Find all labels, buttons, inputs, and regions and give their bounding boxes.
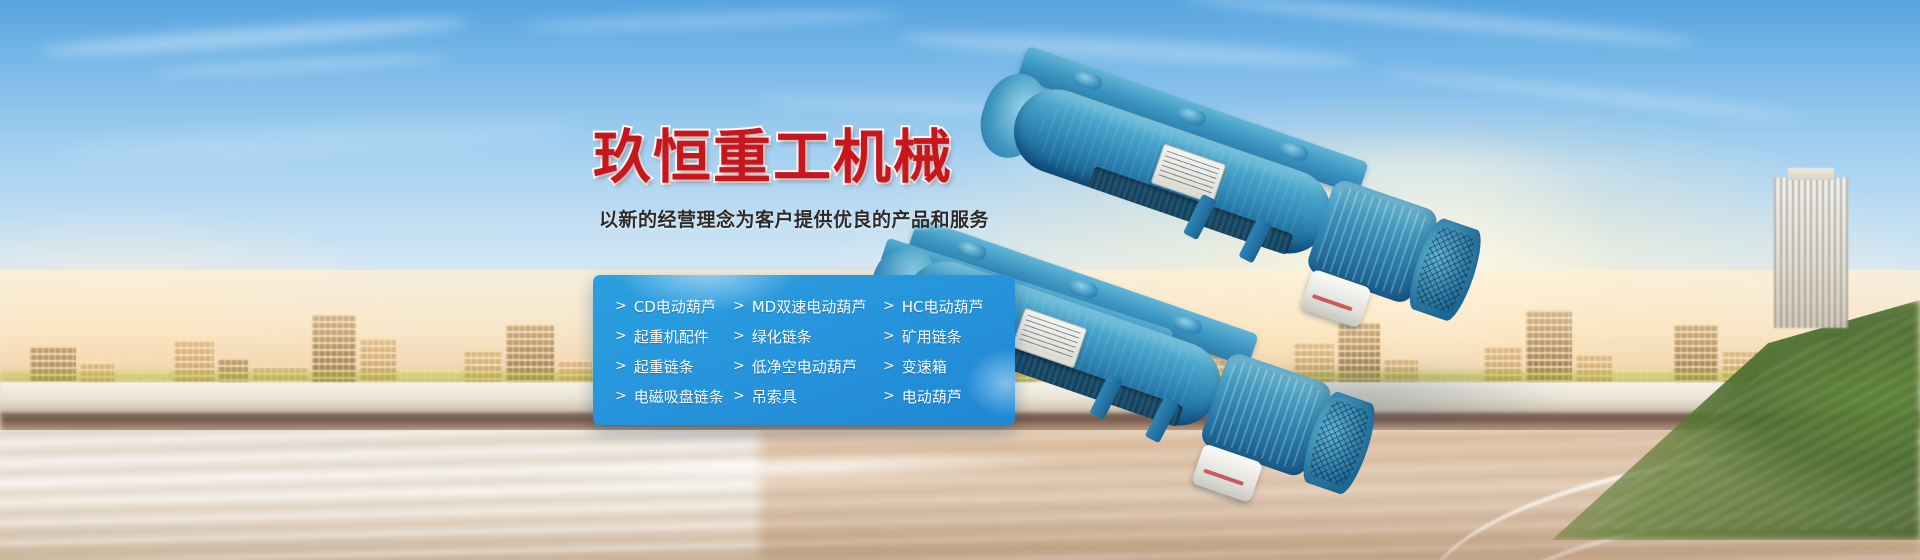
chevron-right-icon: >	[733, 299, 745, 313]
hoist-box-stripe	[1203, 468, 1244, 485]
product-category-label: 起重链条	[634, 356, 694, 377]
product-category-label: 起重机配件	[634, 326, 709, 347]
chevron-right-icon: >	[883, 359, 895, 373]
product-category-link[interactable]: >电磁吸盘链条	[615, 386, 733, 407]
product-category-label: 吊索具	[752, 386, 797, 407]
product-category-link[interactable]: >矿用链条	[883, 326, 997, 347]
product-category-link[interactable]: >CD电动葫芦	[615, 296, 733, 317]
promo-banner: 玖恒重工机械 以新的经营理念为客户提供优良的产品和服务 >CD电动葫芦>MD双速…	[0, 0, 1920, 560]
chevron-right-icon: >	[733, 359, 745, 373]
chevron-right-icon: >	[883, 389, 895, 403]
chevron-right-icon: >	[883, 299, 895, 313]
product-category-panel: >CD电动葫芦>MD双速电动葫芦>HC电动葫芦>起重机配件>绿化链条>矿用链条>…	[593, 275, 1015, 425]
product-category-label: 矿用链条	[902, 326, 962, 347]
chevron-right-icon: >	[615, 359, 627, 373]
product-category-label: 绿化链条	[752, 326, 812, 347]
product-category-label: MD双速电动葫芦	[752, 296, 867, 317]
headline-block: 玖恒重工机械 以新的经营理念为客户提供优良的产品和服务	[593, 128, 1033, 232]
chevron-right-icon: >	[883, 329, 895, 343]
chevron-right-icon: >	[615, 299, 627, 313]
product-category-label: 变速箱	[902, 356, 947, 377]
product-category-label: 电磁吸盘链条	[634, 386, 724, 407]
product-category-link[interactable]: >电动葫芦	[883, 386, 997, 407]
product-category-link[interactable]: >HC电动葫芦	[883, 296, 997, 317]
product-image-hoists	[1030, 60, 1920, 490]
product-category-link[interactable]: >变速箱	[883, 356, 997, 377]
product-category-label: 电动葫芦	[902, 386, 962, 407]
product-category-link[interactable]: >MD双速电动葫芦	[733, 296, 883, 317]
product-category-link[interactable]: >起重机配件	[615, 326, 733, 347]
product-category-link[interactable]: >起重链条	[615, 356, 733, 377]
hoist-box-stripe	[1312, 294, 1353, 311]
product-category-grid: >CD电动葫芦>MD双速电动葫芦>HC电动葫芦>起重机配件>绿化链条>矿用链条>…	[593, 275, 1015, 425]
product-category-label: 低净空电动葫芦	[752, 356, 857, 377]
product-category-label: CD电动葫芦	[634, 296, 716, 317]
page-title: 玖恒重工机械	[593, 128, 1033, 187]
product-category-link[interactable]: >绿化链条	[733, 326, 883, 347]
chevron-right-icon: >	[615, 329, 627, 343]
chevron-right-icon: >	[615, 389, 627, 403]
product-category-label: HC电动葫芦	[902, 296, 984, 317]
product-category-link[interactable]: >吊索具	[733, 386, 883, 407]
product-category-link[interactable]: >低净空电动葫芦	[733, 356, 883, 377]
chevron-right-icon: >	[733, 389, 745, 403]
page-subtitle: 以新的经营理念为客户提供优良的产品和服务	[599, 205, 1033, 232]
chevron-right-icon: >	[733, 329, 745, 343]
